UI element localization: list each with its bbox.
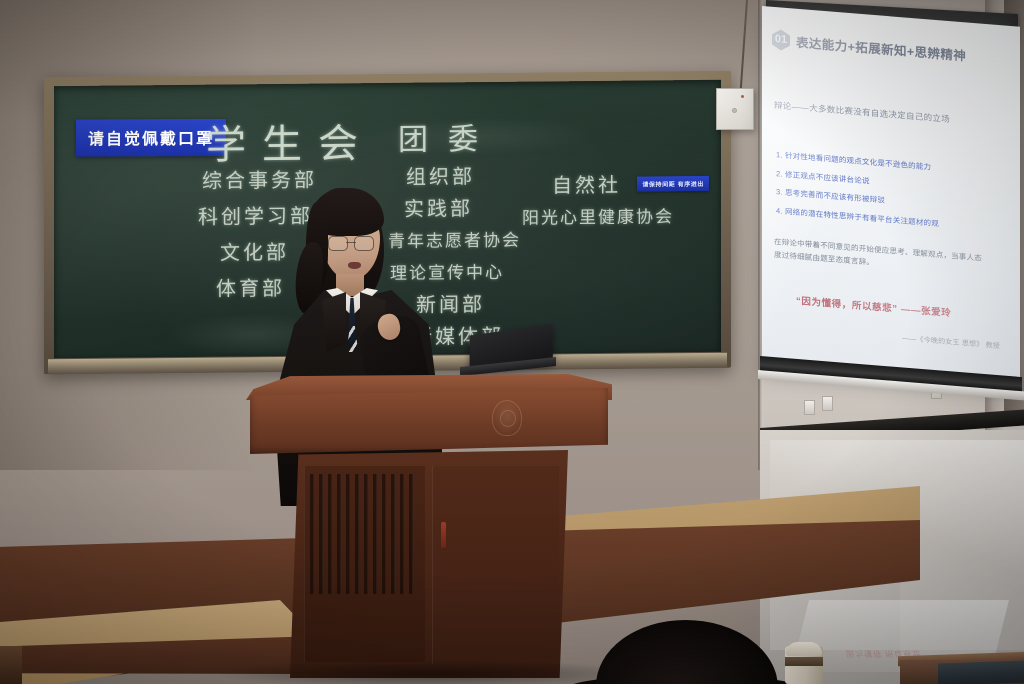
slide-subtitle: 辩论——大多数比赛没有自选决定自己的立场 (774, 99, 950, 125)
projection-screen: 01 表达能力+拓展新知+思辨精神 辩论——大多数比赛没有自选决定自己的立场 1… (762, 6, 1020, 389)
slide-quote: “因为懂得，所以慈悲” ——张爱玲 (796, 293, 951, 319)
mask-notice-banner: 请自觉佩戴口罩 (76, 119, 226, 157)
slide-number-badge: 01 (772, 29, 790, 51)
thermos-cup-band (785, 657, 823, 666)
slide-paragraph: 在辩论中带着不同意见的开始便应思考、理解观点，当事人态度过待细腻由题至态度言辞。 (774, 235, 982, 278)
podium-front-band (250, 388, 608, 454)
classroom-scene: 请自觉佩戴口罩 请保持间距 有序进出 学生会 综合事务部 科创学习部 文化部 体… (0, 0, 1024, 684)
chalk-heading-youth-league: 团委 (398, 114, 498, 159)
slide-bullet-list: 1. 针对性地看问题的观点文化是不逊色的能力 2. 修正观点不应该讲台论说 3.… (776, 149, 939, 229)
slide-title: 表达能力+拓展新知+思辨精神 (796, 32, 966, 65)
wall-outlet[interactable] (822, 396, 833, 411)
thermos-cup-lid[interactable] (786, 642, 822, 656)
chalk-item-right: 阳光心里健康协会 (522, 202, 674, 228)
panel-led-icon (741, 95, 744, 98)
podium-lock-icon[interactable] (441, 522, 446, 548)
podium-cabinet-door[interactable] (432, 466, 559, 664)
bench-left (0, 646, 22, 684)
glasses-icon (328, 236, 374, 249)
chalk-heading-student-union: 学生会 (206, 111, 374, 171)
panel-button-icon[interactable] (732, 108, 737, 113)
podium-shadow (220, 660, 640, 684)
slide-header: 01 表达能力+拓展新知+思辨精神 (772, 29, 966, 66)
school-emblem-icon (492, 400, 522, 436)
chalk-heading-nature-club: 自然社 (552, 169, 621, 199)
screen-surface: 01 表达能力+拓展新知+思辨精神 辩论——大多数比赛没有自选决定自己的立场 1… (762, 6, 1020, 389)
wall-outlet[interactable] (804, 400, 815, 415)
projector-control-panel[interactable] (716, 88, 754, 130)
podium-louvers (310, 474, 418, 594)
desk-object (938, 660, 1024, 684)
distance-notice-banner: 请保持间距 有序进出 (637, 176, 709, 192)
slide-content: 01 表达能力+拓展新知+思辨精神 辩论——大多数比赛没有自选决定自己的立场 1… (762, 6, 1020, 389)
podium (246, 366, 612, 684)
slide-source: ——《今晚的女王 思想》 教授 (902, 333, 1000, 351)
mouth (348, 262, 361, 269)
